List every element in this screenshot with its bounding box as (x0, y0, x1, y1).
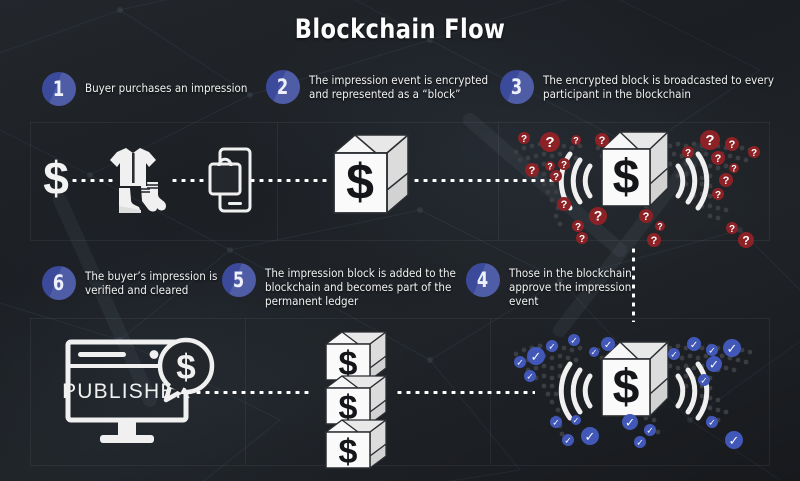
approval-world-map-verified: $ ✓ ✓ ✓ ✓ ✓ ✓ ✓ ✓ ✓ ✓ ✓ ✓ ✓ ✓ ✓ ✓ ✓ ✓ (498, 318, 770, 465)
svg-text:✓: ✓ (548, 343, 556, 353)
encrypted-block-cube: $ (330, 133, 412, 225)
svg-text:?: ? (573, 136, 579, 146)
step-2: 2 The impression event is encrypted and … (266, 70, 494, 104)
step-6-description: The buyer’s impression is verified and c… (85, 266, 225, 297)
ledger-block-1: $ (326, 420, 386, 471)
svg-text:?: ? (729, 224, 735, 235)
svg-text:$: $ (613, 361, 640, 414)
svg-text:?: ? (643, 211, 650, 223)
shopping-bag-glyph (210, 159, 240, 194)
svg-text:?: ? (731, 164, 737, 174)
svg-text:?: ? (561, 199, 568, 211)
svg-text:✓: ✓ (516, 359, 524, 369)
svg-text:✓: ✓ (591, 348, 598, 357)
step-3-number-badge: 3 (500, 70, 534, 104)
mobile-shopping-icon (208, 148, 252, 214)
svg-text:?: ? (575, 222, 581, 233)
svg-text:?: ? (579, 234, 585, 245)
svg-text:✓: ✓ (552, 419, 560, 429)
svg-text:?: ? (657, 222, 663, 232)
infographic-canvas: Blockchain Flow 1 Buyer purchases an imp… (0, 0, 800, 481)
svg-text:✓: ✓ (646, 427, 654, 437)
step-1: 1 Buyer purchases an impression (42, 72, 247, 106)
broadcast-waves-right (678, 364, 707, 418)
ledger-block-stack: $ $ $ (322, 330, 408, 470)
connector-dots-phone-to-block (248, 179, 330, 182)
broadcast-block-cube: $ (602, 132, 668, 206)
svg-text:?: ? (729, 139, 736, 151)
dollar-sign-icon: $ (40, 156, 72, 204)
broadcast-waves-right (678, 154, 707, 208)
svg-text:✓: ✓ (564, 437, 572, 447)
svg-text:✓: ✓ (625, 416, 635, 430)
svg-text:✓: ✓ (604, 340, 612, 351)
svg-text:$: $ (339, 433, 358, 471)
socks-glyph (141, 182, 166, 212)
svg-text:✓: ✓ (531, 350, 542, 365)
step-4: 4 Those in the blockchain approve the im… (466, 263, 644, 308)
svg-text:?: ? (599, 135, 606, 147)
publisher-monitor-icon: PUBLISHER $ (58, 334, 228, 454)
svg-text:✓: ✓ (670, 351, 678, 361)
svg-text:?: ? (594, 208, 603, 224)
step-1-number-badge: 1 (42, 72, 76, 106)
step-6-number-badge: 6 (42, 266, 76, 300)
step-6: 6 The buyer’s impression is verified and… (42, 266, 225, 300)
svg-text:?: ? (751, 148, 757, 159)
svg-text:?: ? (529, 165, 536, 177)
page-title: Blockchain Flow (28, 14, 772, 45)
connector-dots-row1-to-row2 (632, 246, 635, 322)
money-speech-bubble: $ (160, 340, 212, 400)
svg-text:?: ? (742, 234, 749, 248)
svg-text:✓: ✓ (708, 347, 716, 357)
step-3-description: The encrypted block is broadcasted to ev… (543, 70, 783, 101)
svg-text:?: ? (545, 134, 554, 151)
svg-text:✓: ✓ (570, 337, 578, 347)
step-5-number-badge: 5 (222, 263, 256, 297)
svg-text:$: $ (176, 348, 195, 387)
svg-text:✓: ✓ (690, 340, 698, 351)
boot-glyph (119, 188, 141, 213)
svg-text:?: ? (561, 160, 567, 171)
svg-text:✓: ✓ (729, 434, 740, 449)
connector-dots-goods-to-phone (170, 179, 212, 182)
step-4-description: Those in the blockchain approve the impr… (509, 263, 644, 308)
step-4-number-badge: 4 (466, 263, 500, 297)
svg-text:✓: ✓ (700, 377, 708, 387)
svg-text:✓: ✓ (709, 358, 719, 372)
svg-text:?: ? (715, 190, 721, 201)
svg-text:?: ? (651, 235, 658, 247)
svg-text:$: $ (43, 152, 69, 204)
step-2-number-badge: 2 (266, 70, 300, 104)
step-2-description: The impression event is encrypted and re… (309, 70, 494, 101)
svg-text:✓: ✓ (636, 439, 644, 449)
step-3: 3 The encrypted block is broadcasted to … (500, 70, 783, 104)
step-1-description: Buyer purchases an impression (85, 72, 247, 95)
svg-text:✓: ✓ (573, 416, 580, 425)
svg-text:✓: ✓ (526, 373, 534, 383)
block-dollar-glyph: $ (346, 154, 374, 210)
svg-text:?: ? (547, 162, 553, 172)
svg-text:?: ? (553, 172, 559, 183)
apparel-goods-icon (100, 146, 172, 218)
svg-text:?: ? (521, 134, 527, 145)
broadcast-waves-left (561, 364, 590, 418)
svg-text:✓: ✓ (727, 342, 738, 357)
broadcast-world-map-unverified: $ ? ? ? ? ? ? ? ? ? ? ? ? ? ? ? ? ? (498, 122, 770, 240)
svg-text:✓: ✓ (708, 419, 716, 429)
step-5: 5 The impression block is added to the b… (222, 263, 465, 308)
svg-text:?: ? (723, 175, 730, 187)
svg-text:✓: ✓ (585, 430, 596, 445)
svg-text:$: $ (613, 151, 640, 204)
step-5-description: The impression block is added to the blo… (265, 263, 465, 308)
svg-text:?: ? (705, 132, 714, 149)
approval-block-cube: $ (602, 342, 668, 416)
svg-text:?: ? (685, 148, 691, 159)
svg-text:?: ? (715, 153, 722, 165)
